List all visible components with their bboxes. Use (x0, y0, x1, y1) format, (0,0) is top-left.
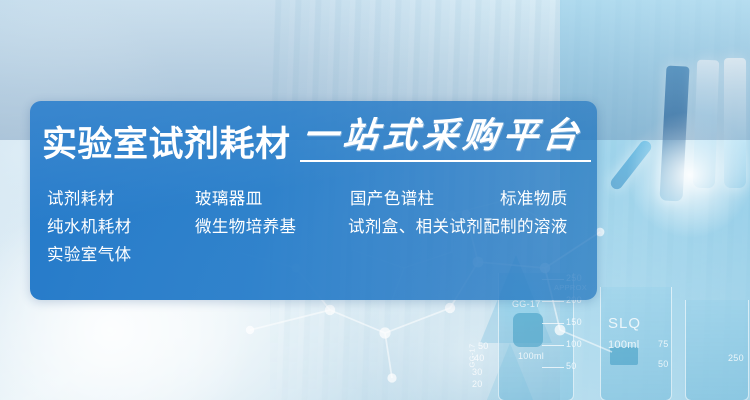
content-panel: 实验室试剂耗材 一站式采购平台 试剂耗材 玻璃器皿 国产色谱柱 标准物质 纯水机… (30, 101, 597, 300)
category-item-domestic-chromatography-column[interactable]: 国产色谱柱 (350, 185, 435, 213)
category-item-laboratory-gases[interactable]: 实验室气体 (47, 241, 132, 269)
category-row: 纯水机耗材 微生物培养基 试剂盒、相关试剂配制的溶液 (47, 213, 595, 241)
category-row: 试剂耗材 玻璃器皿 国产色谱柱 标准物质 (47, 185, 595, 213)
category-row: 实验室气体 (47, 241, 595, 269)
headline-underline (300, 160, 591, 162)
category-item-glassware[interactable]: 玻璃器皿 (195, 185, 263, 213)
headline: 实验室试剂耗材 一站式采购平台 (42, 118, 583, 162)
category-item-reagent-kits-solutions[interactable]: 试剂盒、相关试剂配制的溶液 (348, 213, 568, 241)
headline-main-text: 实验室试剂耗材 (42, 127, 291, 162)
category-item-reagent-consumables[interactable]: 试剂耗材 (47, 185, 115, 213)
category-item-water-purifier-consumables[interactable]: 纯水机耗材 (47, 213, 132, 241)
category-item-reference-materials[interactable]: 标准物质 (500, 185, 568, 213)
category-item-microbial-culture-media[interactable]: 微生物培养基 (195, 213, 296, 241)
category-grid: 试剂耗材 玻璃器皿 国产色谱柱 标准物质 纯水机耗材 微生物培养基 试剂盒、相关… (47, 185, 595, 269)
headline-script-wrap: 一站式采购平台 (303, 118, 583, 162)
promo-banner: 250 APPROX 200 150 100 50 GG-17 100ml SL… (0, 0, 750, 400)
headline-script-text: 一站式采购平台 (301, 118, 585, 153)
